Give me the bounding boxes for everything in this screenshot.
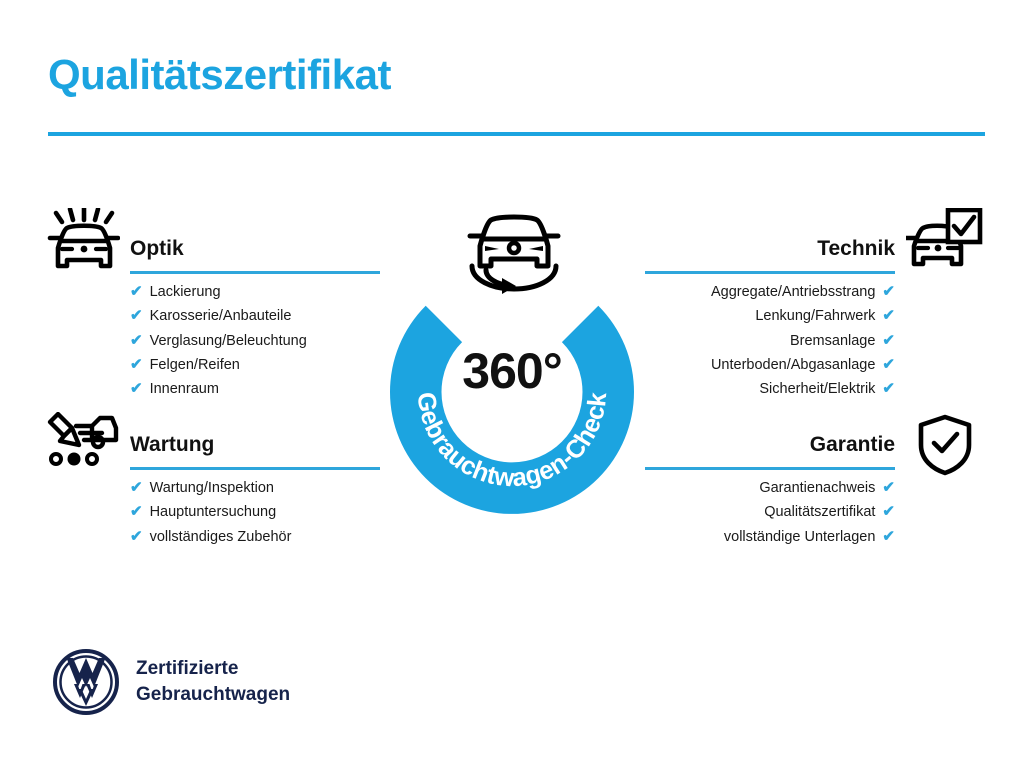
section-technik-header: Technik: [645, 234, 895, 280]
section-garantie-list: Garantienachweis✔ Qualitätszertifikat✔ v…: [645, 476, 895, 549]
check-icon: ✔: [130, 377, 143, 401]
shield-check-icon: [916, 414, 974, 481]
list-item: Qualitätszertifikat✔: [645, 500, 895, 524]
list-item: Unterboden/Abgasanlage✔: [645, 353, 895, 377]
section-wartung-list: ✔Wartung/Inspektion ✔Hauptuntersuchung ✔…: [130, 476, 380, 549]
section-technik: Technik Aggregate/Antriebsstrang✔ Lenkun…: [645, 234, 895, 401]
list-item: Sicherheit/Elektrik✔: [645, 377, 895, 401]
section-wartung: Wartung ✔Wartung/Inspektion ✔Hauptunters…: [130, 430, 380, 549]
list-item: ✔vollständiges Zubehör: [130, 525, 380, 549]
list-item-label: Karosserie/Anbauteile: [150, 304, 292, 328]
list-item: Garantienachweis✔: [645, 476, 895, 500]
vw-wordmark: Zertifizierte Gebrauchtwagen: [136, 656, 290, 707]
list-item-label: Aggregate/Antriebsstrang: [711, 280, 875, 304]
section-optik-list: ✔Lackierung ✔Karosserie/Anbauteile ✔Verg…: [130, 280, 380, 401]
check-icon: ✔: [882, 476, 895, 500]
check-icon: ✔: [130, 500, 143, 524]
list-item: ✔Wartung/Inspektion: [130, 476, 380, 500]
section-optik: Optik ✔Lackierung ✔Karosserie/Anbauteile…: [130, 234, 380, 401]
check-icon: ✔: [882, 280, 895, 304]
section-technik-underline: [645, 271, 895, 274]
page-title: Qualitätszertifikat: [48, 52, 391, 98]
car-rotation-icon: [452, 204, 576, 296]
list-item: ✔Hauptuntersuchung: [130, 500, 380, 524]
list-item-label: Wartung/Inspektion: [150, 476, 274, 500]
section-garantie-title: Garantie: [645, 430, 895, 460]
list-item: ✔Lackierung: [130, 280, 380, 304]
list-item-label: Verglasung/Beleuchtung: [150, 329, 307, 353]
badge-360-check: Gebrauchtwagen-Check 360°: [376, 256, 648, 528]
car-shine-icon: [46, 208, 120, 279]
vw-logo: [52, 648, 120, 716]
check-icon: ✔: [882, 329, 895, 353]
check-icon: ✔: [882, 304, 895, 328]
list-item: vollständige Unterlagen✔: [645, 525, 895, 549]
check-icon: ✔: [882, 525, 895, 549]
section-optik-header: Optik: [130, 234, 380, 280]
section-garantie-header: Garantie: [645, 430, 895, 476]
list-item-label: Innenraum: [150, 377, 219, 401]
section-wartung-underline: [130, 467, 380, 470]
list-item-label: Sicherheit/Elektrik: [759, 377, 875, 401]
check-icon: ✔: [882, 353, 895, 377]
section-optik-title: Optik: [130, 234, 380, 264]
list-item-label: Garantienachweis: [759, 476, 875, 500]
check-icon: ✔: [130, 476, 143, 500]
section-technik-title: Technik: [645, 234, 895, 264]
list-item-label: Hauptuntersuchung: [150, 500, 277, 524]
check-icon: ✔: [130, 304, 143, 328]
section-wartung-title: Wartung: [130, 430, 380, 460]
vw-wordmark-line2: Gebrauchtwagen: [136, 682, 290, 708]
check-icon: ✔: [130, 525, 143, 549]
section-technik-list: Aggregate/Antriebsstrang✔ Lenkung/Fahrwe…: [645, 280, 895, 401]
list-item: ✔Karosserie/Anbauteile: [130, 304, 380, 328]
badge-center-label: 360°: [376, 342, 648, 400]
section-optik-underline: [130, 271, 380, 274]
title-divider: [48, 132, 985, 136]
vw-wordmark-line1: Zertifizierte: [136, 656, 290, 682]
vw-brand-block: Zertifizierte Gebrauchtwagen: [52, 648, 290, 716]
list-item: Aggregate/Antriebsstrang✔: [645, 280, 895, 304]
list-item-label: Felgen/Reifen: [150, 353, 240, 377]
list-item-label: Lackierung: [150, 280, 221, 304]
list-item-label: vollständige Unterlagen: [724, 525, 876, 549]
service-book-pencil-car-icon: [46, 412, 122, 473]
list-item: Lenkung/Fahrwerk✔: [645, 304, 895, 328]
list-item: Bremsanlage✔: [645, 329, 895, 353]
list-item: ✔Verglasung/Beleuchtung: [130, 329, 380, 353]
list-item-label: vollständiges Zubehör: [150, 525, 292, 549]
check-icon: ✔: [882, 500, 895, 524]
car-checkbox-icon: [906, 208, 984, 279]
check-icon: ✔: [130, 329, 143, 353]
check-icon: ✔: [130, 353, 143, 377]
section-garantie: Garantie Garantienachweis✔ Qualitätszert…: [645, 430, 895, 549]
list-item-label: Bremsanlage: [790, 329, 875, 353]
list-item-label: Unterboden/Abgasanlage: [711, 353, 875, 377]
section-wartung-header: Wartung: [130, 430, 380, 476]
check-icon: ✔: [882, 377, 895, 401]
list-item-label: Qualitätszertifikat: [764, 500, 875, 524]
check-icon: ✔: [130, 280, 143, 304]
list-item: ✔Innenraum: [130, 377, 380, 401]
list-item-label: Lenkung/Fahrwerk: [755, 304, 875, 328]
list-item: ✔Felgen/Reifen: [130, 353, 380, 377]
section-garantie-underline: [645, 467, 895, 470]
